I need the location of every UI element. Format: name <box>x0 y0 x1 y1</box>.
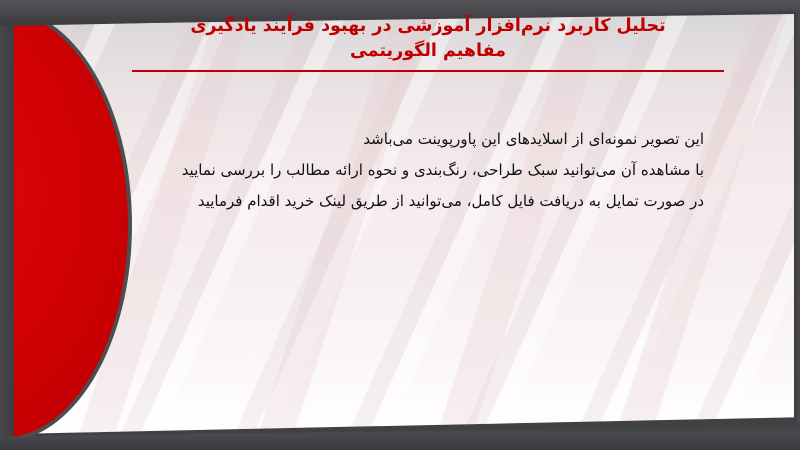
presentation-slide: تحلیل کاربرد نرم‌افزار آموزشی در بهبود ف… <box>0 0 800 450</box>
red-ellipse-decoration <box>0 8 132 442</box>
slide-frame-right <box>794 0 800 450</box>
title-line-1: تحلیل کاربرد نرم‌افزار آموزشی در بهبود ف… <box>128 14 728 39</box>
red-ellipse-outline <box>0 8 132 442</box>
slide-frame-left <box>0 0 14 450</box>
slide-title: تحلیل کاربرد نرم‌افزار آموزشی در بهبود ف… <box>128 14 728 72</box>
body-line-3: در صورت تمایل به دریافت فایل کامل، می‌تو… <box>144 186 704 217</box>
body-line-1: این تصویر نمونه‌ای از اسلایدهای این پاور… <box>144 124 704 155</box>
title-divider <box>132 70 724 72</box>
title-line-2: مفاهیم الگوریتمی <box>128 39 728 64</box>
body-line-2: با مشاهده آن می‌توانید سبک طراحی، رنگ‌بن… <box>144 155 704 186</box>
red-ellipse-fill <box>0 12 128 438</box>
slide-body-text: این تصویر نمونه‌ای از اسلایدهای این پاور… <box>144 124 704 217</box>
